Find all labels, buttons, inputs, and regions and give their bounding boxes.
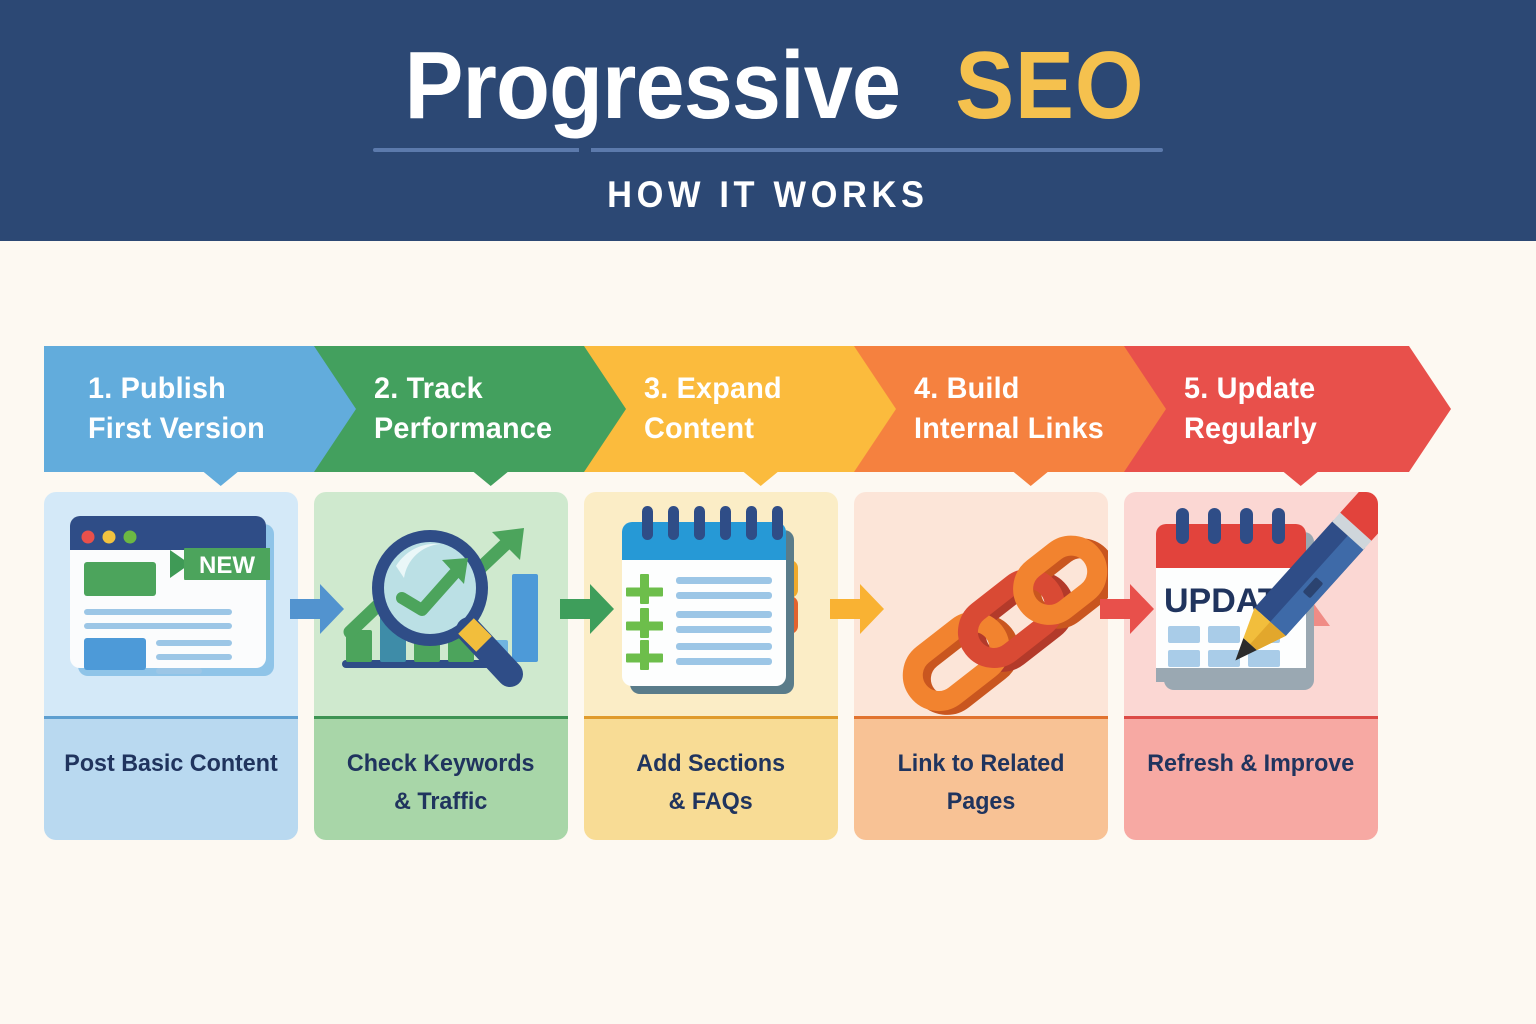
card-icon-area-5: UPDATE (1124, 492, 1378, 716)
notepad-plus-list-icon (584, 492, 838, 716)
card-icon-area-4 (854, 492, 1108, 716)
step-card-5[interactable]: UPDATERefresh & Improve (1124, 492, 1378, 840)
card-caption-area-5: Refresh & Improve (1124, 719, 1378, 840)
card-caption-area-1: Post Basic Content (44, 719, 298, 840)
card-caption-area-3: Add Sections & FAQs (584, 719, 838, 840)
arrow-right-icon (556, 578, 618, 640)
card-caption-3: Add Sections & FAQs (637, 745, 786, 821)
connector-arrow-1 (286, 578, 348, 640)
step-banner-label-4: 4. Build Internal Links (914, 369, 1104, 448)
title-main-text: Progressive (404, 38, 900, 134)
page-header: Progressive SEO HOW IT WORKS (0, 0, 1536, 241)
title-divider-rule (373, 148, 1163, 152)
arrow-right-icon (286, 578, 348, 640)
card-caption-area-2: Check Keywords & Traffic (314, 719, 568, 840)
step-card-4[interactable]: Link to Related Pages (854, 492, 1108, 840)
step-banner-label-5: 5. Update Regularly (1184, 369, 1317, 448)
card-caption-4: Link to Related Pages (898, 745, 1065, 821)
step-banner-5[interactable]: 5. Update Regularly (1124, 346, 1451, 472)
step-card-3[interactable]: Add Sections & FAQs (584, 492, 838, 840)
arrow-right-icon (1096, 578, 1158, 640)
step-banner-row: 1. Publish First Version2. Track Perform… (44, 346, 1444, 472)
step-card-2[interactable]: Check Keywords & Traffic (314, 492, 568, 840)
step-card-row: NEWPost Basic ContentCheck Keywords & Tr… (44, 492, 1444, 840)
page-title: Progressive SEO (383, 38, 1153, 134)
step-banner-label-2: 2. Track Performance (374, 369, 552, 448)
browser-window-new-icon: NEW (44, 492, 298, 716)
step-card-1[interactable]: NEWPost Basic Content (44, 492, 298, 840)
step-banner-label-1: 1. Publish First Version (88, 369, 265, 448)
svg-text:NEW: NEW (199, 552, 255, 579)
card-caption-2: Check Keywords & Traffic (347, 745, 535, 821)
card-caption-5: Refresh & Improve (1147, 745, 1354, 783)
step-banner-label-3: 3. Expand Content (644, 369, 782, 448)
calendar-pencil-update-icon: UPDATE (1124, 492, 1378, 716)
arrow-right-icon (826, 578, 888, 640)
title-accent-text: SEO (956, 38, 1145, 134)
card-icon-area-2 (314, 492, 568, 716)
page-subtitle: HOW IT WORKS (607, 174, 928, 216)
card-icon-area-1: NEW (44, 492, 298, 716)
connector-arrow-2 (556, 578, 618, 640)
card-icon-area-3 (584, 492, 838, 716)
connector-arrow-4 (1096, 578, 1158, 640)
card-caption-area-4: Link to Related Pages (854, 719, 1108, 840)
chain-links-icon (854, 492, 1108, 716)
magnifier-bar-chart-icon (314, 492, 568, 716)
card-caption-1: Post Basic Content (64, 745, 277, 783)
connector-arrow-3 (826, 578, 888, 640)
